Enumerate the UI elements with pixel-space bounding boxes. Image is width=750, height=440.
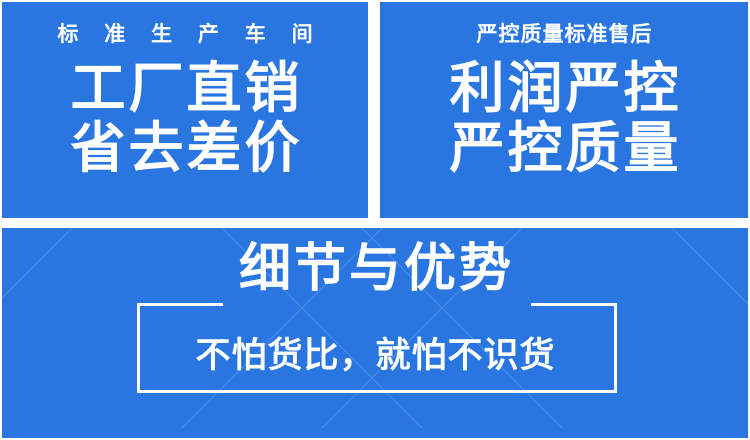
promo-banner: 标 准 生 产 车 间 工厂直销 省去差价 严控质量标准售后 利润严控 严控质量 xyxy=(0,0,750,440)
top-left-headline-line1: 工厂直销 xyxy=(67,59,302,117)
panel-top-right: 严控质量标准售后 利润严控 严控质量 xyxy=(380,2,748,218)
frame-segment-top-left xyxy=(137,303,223,306)
frame-segment-bottom xyxy=(137,390,617,393)
panel-top-left: 标 准 生 产 车 间 工厂直销 省去差价 xyxy=(2,2,368,218)
bottom-title: 细节与优势 xyxy=(2,243,748,295)
top-right-eyebrow: 严控质量标准售后 xyxy=(476,24,653,45)
top-left-headline-line2: 省去差价 xyxy=(67,119,302,177)
frame-segment-top-right xyxy=(531,303,617,306)
panel-top-left-content: 标 准 生 产 车 间 工厂直销 省去差价 xyxy=(2,2,368,218)
panel-bottom: 细节与优势 不怕货比，就怕不识货 xyxy=(2,228,748,438)
panel-top-right-content: 严控质量标准售后 利润严控 严控质量 xyxy=(380,2,748,218)
top-left-eyebrow: 标 准 生 产 车 间 xyxy=(47,24,322,45)
bottom-subtitle: 不怕货比，就怕不识货 xyxy=(2,338,748,373)
top-right-headline-line1: 利润严控 xyxy=(446,59,681,117)
top-right-headline-line2: 严控质量 xyxy=(446,119,681,177)
